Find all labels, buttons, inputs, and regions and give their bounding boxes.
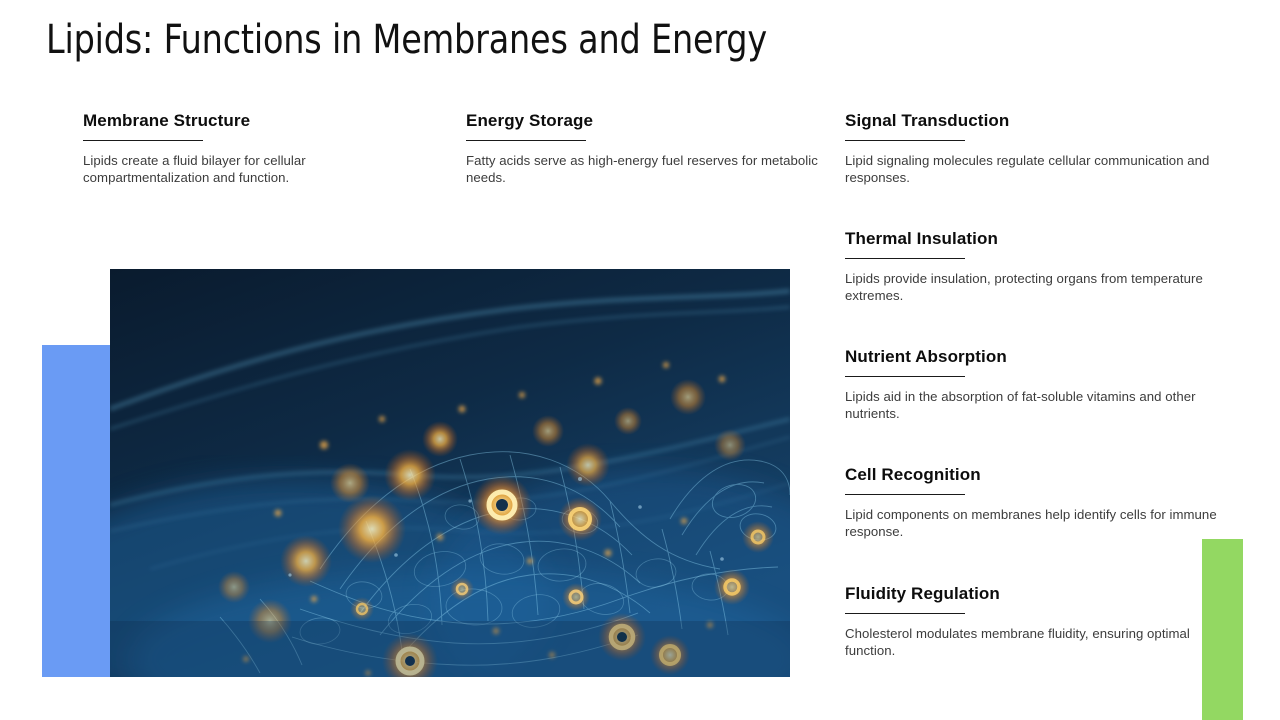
card-fluidity-regulation: Fluidity Regulation Cholesterol modulate… [845, 584, 1235, 659]
card-divider [845, 613, 965, 614]
card-energy-storage: Energy Storage Fatty acids serve as high… [466, 111, 821, 186]
card-body: Lipids provide insulation, protecting or… [845, 271, 1235, 304]
card-signal-transduction: Signal Transduction Lipid signaling mole… [845, 111, 1235, 186]
page-title: Lipids: Functions in Membranes and Energ… [46, 18, 767, 62]
illustration-image [110, 269, 790, 677]
card-body: Lipid signaling molecules regulate cellu… [845, 153, 1235, 186]
card-cell-recognition: Cell Recognition Lipid components on mem… [845, 465, 1235, 540]
card-heading: Nutrient Absorption [845, 347, 1235, 367]
card-thermal-insulation: Thermal Insulation Lipids provide insula… [845, 229, 1235, 304]
card-membrane-structure: Membrane Structure Lipids create a fluid… [83, 111, 413, 186]
neural-network-illustration [110, 269, 790, 677]
card-body: Lipids aid in the absorption of fat-solu… [845, 389, 1235, 422]
card-body: Cholesterol modulates membrane fluidity,… [845, 626, 1235, 659]
card-nutrient-absorption: Nutrient Absorption Lipids aid in the ab… [845, 347, 1235, 422]
card-body: Fatty acids serve as high-energy fuel re… [466, 153, 821, 186]
card-body: Lipid components on membranes help ident… [845, 507, 1235, 540]
card-body: Lipids create a fluid bilayer for cellul… [83, 153, 413, 186]
card-divider [845, 258, 965, 259]
card-divider [845, 140, 965, 141]
card-divider [845, 494, 965, 495]
left-accent-bar [42, 345, 110, 677]
card-heading: Fluidity Regulation [845, 584, 1235, 604]
card-divider [845, 376, 965, 377]
card-heading: Membrane Structure [83, 111, 413, 131]
card-heading: Thermal Insulation [845, 229, 1235, 249]
card-heading: Signal Transduction [845, 111, 1235, 131]
card-divider [83, 140, 203, 141]
card-heading: Cell Recognition [845, 465, 1235, 485]
card-divider [466, 140, 586, 141]
card-heading: Energy Storage [466, 111, 821, 131]
